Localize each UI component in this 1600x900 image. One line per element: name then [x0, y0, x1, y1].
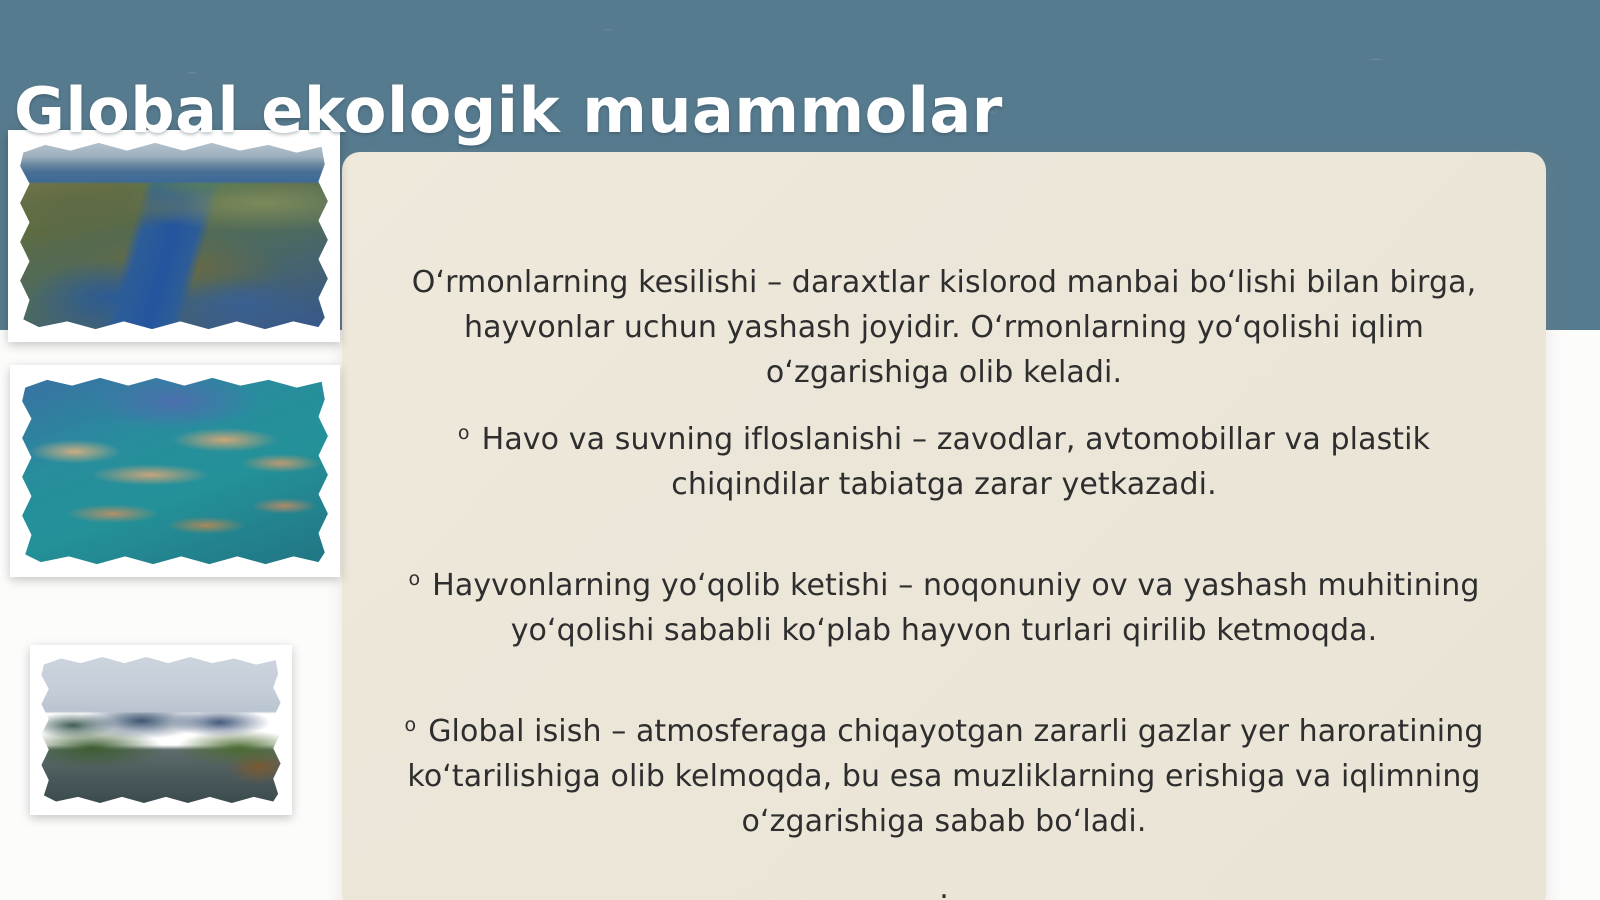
- photo-coral-reef-underwater: [10, 365, 340, 577]
- list-item: oHayvonlarning yo‘qolib ketishi – noqonu…: [398, 563, 1490, 653]
- photo-frame: [17, 139, 331, 333]
- photo-frame: [19, 374, 331, 568]
- content-panel: O‘rmonlarning kesilishi – daraxtlar kisl…: [342, 152, 1546, 900]
- list-item-label: Hayvonlarning yo‘qolib ketishi – noqonun…: [432, 568, 1479, 648]
- slide-root: Global ekologik muammolar O‘rmonlarning …: [0, 0, 1600, 900]
- photo-aerial-river-landscape: [8, 130, 340, 342]
- photo-image-mountain-lake: [39, 654, 283, 806]
- photo-mountain-lake-reflection: [30, 645, 292, 815]
- bullet-circle-icon: o: [458, 419, 470, 448]
- list-item: oGlobal isish – atmosferaga chiqayotgan …: [398, 709, 1490, 844]
- photo-image-aerial-river: [17, 139, 331, 333]
- list-item-label: Havo va suvning ifloslanishi – zavodlar,…: [482, 422, 1430, 502]
- photo-frame: [39, 654, 283, 806]
- bullet-circle-icon: o: [408, 565, 420, 594]
- page-title: Global ekologik muammolar: [14, 80, 1003, 142]
- list-item: oHavo va suvning ifloslanishi – zavodlar…: [398, 417, 1490, 507]
- photo-image-coral-reef: [19, 374, 331, 568]
- intro-paragraph: O‘rmonlarning kesilishi – daraxtlar kisl…: [398, 260, 1490, 395]
- list-item-label: Global isish – atmosferaga chiqayotgan z…: [407, 714, 1483, 839]
- trailing-period: .: [398, 874, 1490, 900]
- bullet-circle-icon: o: [404, 711, 416, 740]
